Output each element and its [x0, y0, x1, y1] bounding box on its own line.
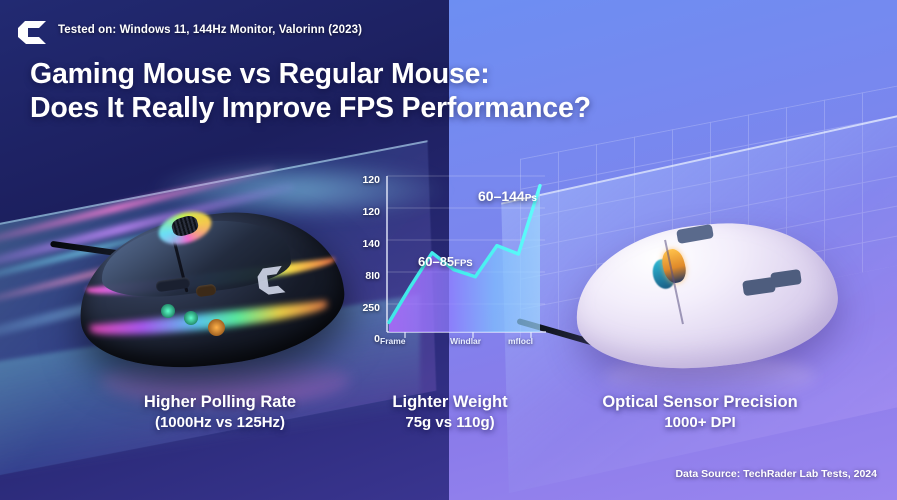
page-title-line2: Does It Really Improve FPS Performance? — [30, 92, 591, 126]
gaming-mouse-brand-logo-icon — [254, 261, 292, 299]
data-source-note: Data Source: TechRader Lab Tests, 2024 — [675, 468, 877, 480]
chart-y-axis: 120 120 140 8I0 250 0 — [350, 172, 380, 332]
annotation-high-value: 60–144 — [478, 188, 525, 204]
page-title: Gaming Mouse vs Regular Mouse: Does It R… — [30, 58, 591, 125]
caption-weight: Lighter Weight 75g vs 110g) — [330, 392, 570, 432]
gaming-mouse-power-led — [208, 319, 225, 336]
x-tick-label: mflocl — [508, 336, 533, 346]
caption-sensor-detail: 1000+ DPI — [545, 413, 855, 432]
x-tick-label: Frame — [380, 336, 406, 346]
tested-on-tagline: Tested on: Windows 11, 144Hz Monitor, Va… — [58, 24, 362, 36]
fps-performance-chart: 120 120 140 8I0 250 0 — [350, 172, 550, 357]
caption-sensor-title: Optical Sensor Precision — [545, 392, 855, 413]
gaming-mouse-indicator-led — [161, 304, 175, 318]
header-bar: Tested on: Windows 11, 144Hz Monitor, Va… — [0, 0, 897, 56]
y-tick-label: 250 — [362, 302, 380, 314]
y-tick-label: 120 — [362, 206, 380, 218]
chart-annotation-low: 60–85FPS — [418, 254, 473, 269]
caption-weight-detail: 75g vs 110g) — [330, 413, 570, 432]
gaming-mouse-indicator-led — [184, 311, 198, 325]
x-tick-label: Windlar — [450, 336, 481, 346]
y-tick-label: 8I0 — [365, 270, 380, 282]
regular-mouse-image — [565, 215, 855, 395]
y-tick-label: 120 — [362, 174, 380, 186]
caption-weight-title: Lighter Weight — [330, 392, 570, 413]
infographic-canvas: Tested on: Windows 11, 144Hz Monitor, Va… — [0, 0, 897, 500]
annotation-high-unit: Ps — [525, 193, 537, 204]
page-title-line1: Gaming Mouse vs Regular Mouse: — [30, 58, 490, 90]
gaming-shield-logo-icon — [16, 19, 50, 45]
annotation-low-unit: FPS — [454, 258, 472, 269]
chart-annotation-high: 60–144Ps — [478, 188, 537, 204]
gaming-mouse-image — [60, 195, 360, 385]
annotation-low-value: 60–85 — [418, 254, 454, 269]
y-tick-label: 140 — [362, 238, 380, 250]
caption-sensor: Optical Sensor Precision 1000+ DPI — [545, 392, 855, 432]
